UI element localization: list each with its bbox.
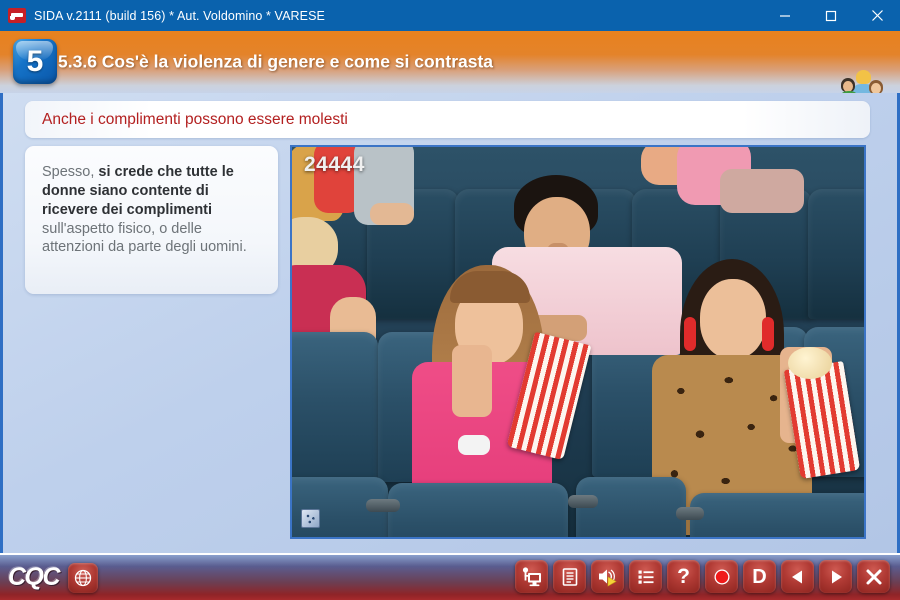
window-controls <box>762 0 900 31</box>
bottom-toolbar: CQC <box>0 553 900 600</box>
maximize-icon <box>825 10 837 22</box>
letter-d-icon: D <box>752 567 766 587</box>
subtitle-text: Anche i complimenti possono essere moles… <box>42 111 348 129</box>
monitor-icon <box>521 566 543 588</box>
text-tail: sull'aspetto fisico, o delle attenzioni … <box>42 221 247 256</box>
toolbar-buttons: ? D <box>515 560 890 593</box>
speaker-play-icon <box>596 565 619 588</box>
globe-button[interactable] <box>68 563 98 593</box>
explanation-text: Spesso, si crede che tutte le donne sian… <box>42 163 264 257</box>
image-overlay-number: 24444 <box>304 153 365 177</box>
window-titlebar: SIDA v.2111 (build 156) * Aut. Voldomino… <box>0 0 900 31</box>
minimize-button[interactable] <box>762 0 808 31</box>
chapter-badge: 5 <box>10 36 60 88</box>
record-button[interactable] <box>705 560 738 593</box>
audio-button[interactable] <box>591 560 624 593</box>
next-button[interactable] <box>819 560 852 593</box>
record-circle-icon <box>711 566 733 588</box>
arrow-left-icon <box>787 566 809 588</box>
document-button[interactable] <box>553 560 586 593</box>
application-window: SIDA v.2111 (build 156) * Aut. Voldomino… <box>0 0 900 600</box>
cinema-audience-photo: 24444 <box>292 147 864 537</box>
globe-icon <box>73 568 93 588</box>
text-lead: Spesso, <box>42 164 98 180</box>
cqc-logo-text: CQC <box>8 563 59 592</box>
close-button[interactable] <box>854 0 900 31</box>
screen-button[interactable] <box>515 560 548 593</box>
previous-button[interactable] <box>781 560 814 593</box>
exit-button[interactable] <box>857 560 890 593</box>
people-group-icon <box>838 69 890 93</box>
page-title: 5.3.6 Cos'è la violenza di genere e come… <box>58 52 493 73</box>
dictionary-button[interactable]: D <box>743 560 776 593</box>
list-button[interactable] <box>629 560 662 593</box>
arrow-right-icon <box>825 566 847 588</box>
help-button[interactable]: ? <box>667 560 700 593</box>
content-area: Anche i complimenti possono essere moles… <box>0 93 900 553</box>
vehicle-icon <box>8 8 26 23</box>
stock-watermark-icon <box>301 509 320 528</box>
minimize-icon <box>779 10 791 22</box>
maximize-button[interactable] <box>808 0 854 31</box>
question-mark-icon: ? <box>677 566 690 587</box>
chapter-number: 5 <box>10 39 60 85</box>
close-icon <box>871 9 884 22</box>
document-icon <box>559 566 581 588</box>
chapter-header: 5 5.3.6 Cos'è la violenza di genere e co… <box>0 31 900 93</box>
cqc-logo: CQC <box>8 563 98 593</box>
explanation-card: Spesso, si crede che tutte le donne sian… <box>25 146 278 294</box>
close-x-icon <box>863 566 885 588</box>
window-title: SIDA v.2111 (build 156) * Aut. Voldomino… <box>34 9 762 23</box>
list-icon <box>635 566 657 588</box>
subtitle-banner: Anche i complimenti possono essere moles… <box>25 101 870 138</box>
lesson-image[interactable]: 24444 <box>290 145 866 539</box>
